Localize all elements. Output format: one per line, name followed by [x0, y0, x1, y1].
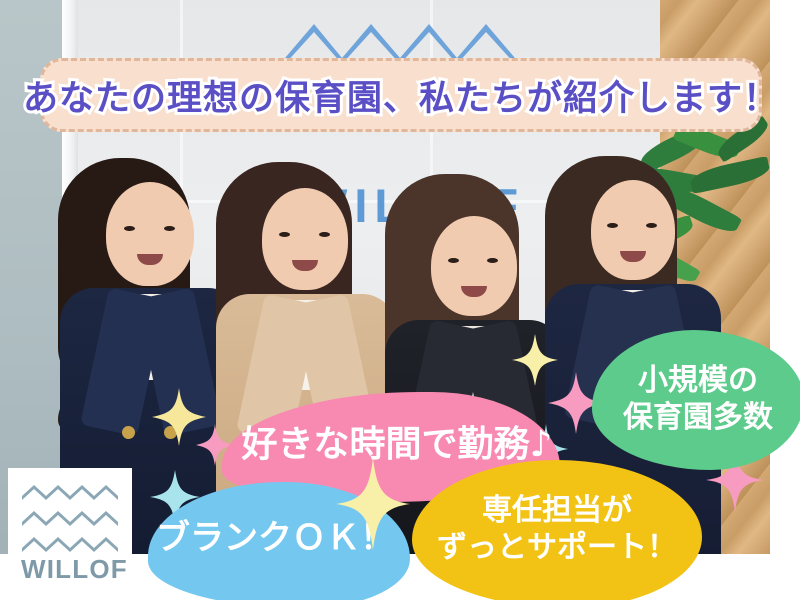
- brand-logo-card: WILLOF: [8, 468, 132, 592]
- feature-bubble-green: 小規模の 保育園多数: [592, 330, 800, 470]
- face: [591, 180, 675, 280]
- bubble-green-line-1: 小規模の: [623, 363, 773, 400]
- willof-zigzag-icon: [22, 536, 118, 552]
- bubble-yellow-line-2: ずっとサポート！: [437, 530, 677, 567]
- headline-text: あなたの理想の保育園、私たちが紹介します！: [23, 70, 779, 121]
- headline-banner: あなたの理想の保育園、私たちが紹介します！: [40, 58, 762, 132]
- advertisement-banner: WILLOF: [0, 0, 800, 600]
- sparkle-yellow-mid-icon: [336, 458, 410, 550]
- willof-zigzag-icon: [22, 510, 118, 526]
- face: [106, 182, 194, 286]
- brand-logo-text: WILLOF: [21, 554, 128, 585]
- bubble-green-line-2: 保育園多数: [623, 400, 773, 437]
- face: [262, 188, 348, 290]
- face: [431, 216, 517, 316]
- willof-zigzag-icon: [22, 484, 118, 500]
- bubble-yellow-line-1: 専任担当が: [437, 493, 677, 530]
